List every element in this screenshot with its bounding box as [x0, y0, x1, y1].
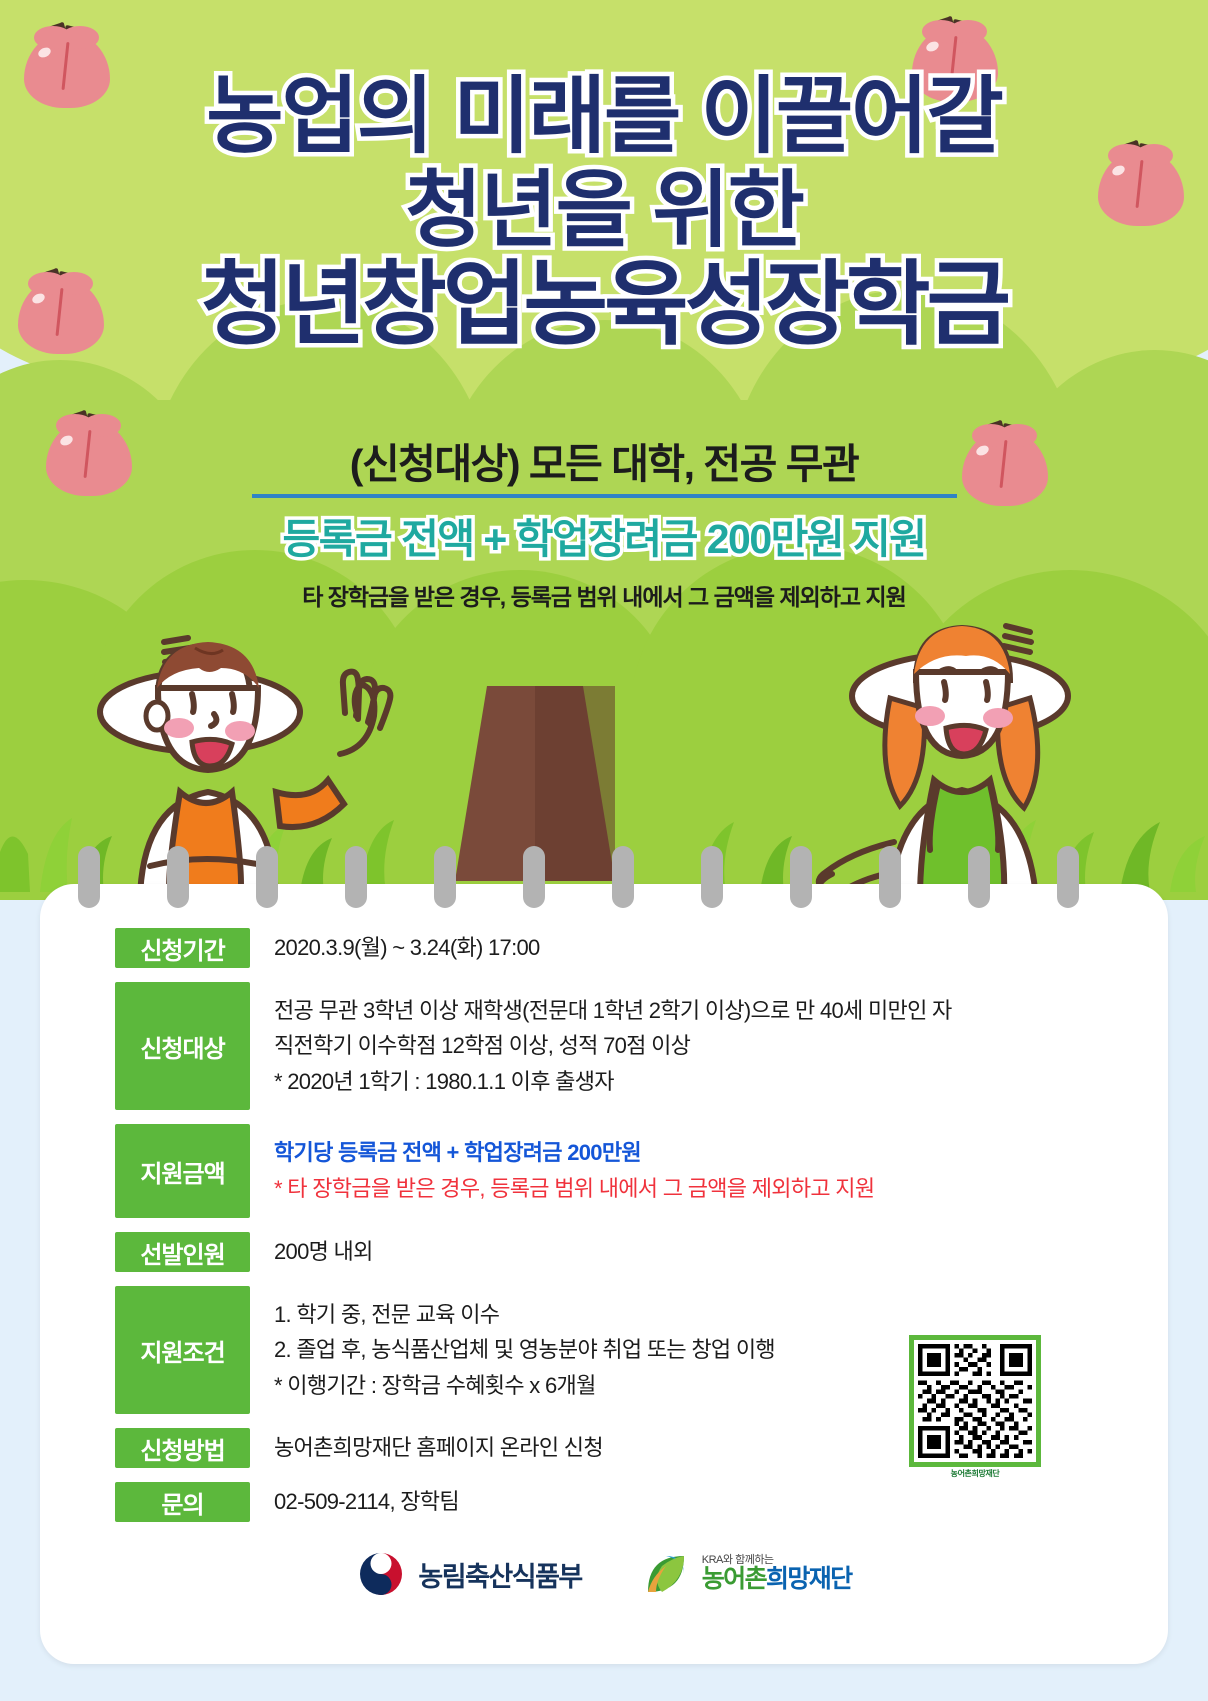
- poster-root: 농업의 미래를 이끌어갈 청년을 위한 청년창업농육성장학금 (신청대상) 모든…: [0, 0, 1208, 1701]
- row-label-method: 신청방법: [115, 1428, 250, 1468]
- row-line: * 타 장학금을 받은 경우, 등록금 범위 내에서 그 금액을 제외하고 지원: [274, 1171, 874, 1207]
- ministry-name: 농림축산식품부: [418, 1555, 581, 1594]
- row-label-target: 신청대상: [115, 982, 250, 1110]
- foundation-name-part1: 농어촌: [702, 1565, 766, 1593]
- leaf-emblem-icon: [642, 1550, 690, 1598]
- row-label-period: 신청기간: [115, 928, 250, 968]
- info-card: 신청기간 2020.3.9(월) ~ 3.24(화) 17:00 신청대상 전공…: [40, 884, 1168, 1664]
- qr-code-image: [918, 1344, 1032, 1458]
- row-value-contact: 02-509-2114, 장학팀: [250, 1482, 459, 1522]
- subtitle-divider: [252, 494, 957, 498]
- row-line: 02-509-2114, 장학팀: [274, 1484, 459, 1520]
- row-label-condition: 지원조건: [115, 1286, 250, 1414]
- row-line: 2. 졸업 후, 농식품산업체 및 영농분야 취업 또는 창업 이행: [274, 1332, 775, 1368]
- taegeuk-emblem-icon: [356, 1549, 406, 1599]
- subtitle-target: (신청대상) 모든 대학, 전공 무관: [0, 430, 1208, 490]
- subtitle-note: 타 장학금을 받은 경우, 등록금 범위 내에서 그 금액을 제외하고 지원: [0, 578, 1208, 612]
- row-line: * 이행기간 : 장학금 수혜횟수 x 6개월: [274, 1368, 775, 1404]
- qr-caption: 농어촌희망재단: [909, 1468, 1041, 1479]
- qr-code[interactable]: [909, 1335, 1041, 1467]
- row-line: 직전학기 이수학점 12학점 이상, 성적 70점 이상: [274, 1028, 952, 1064]
- row-line: 1. 학기 중, 전문 교육 이수: [274, 1297, 775, 1333]
- row-label-contact: 문의: [115, 1482, 250, 1522]
- headline-line-3: 청년창업농육성장학금: [0, 259, 1208, 353]
- table-row-count: 선발인원 200명 내외: [115, 1232, 1115, 1272]
- spiral-binding: [40, 846, 1168, 912]
- row-line: 2020.3.9(월) ~ 3.24(화) 17:00: [274, 930, 540, 966]
- table-row-contact: 문의 02-509-2114, 장학팀: [115, 1482, 1115, 1522]
- row-line: 농어촌희망재단 홈페이지 온라인 신청: [274, 1430, 603, 1466]
- row-value-count: 200명 내외: [250, 1232, 373, 1272]
- row-label-amount: 지원금액: [115, 1124, 250, 1218]
- subtitle-amount: 등록금 전액 + 학업장려금 200만원 지원: [0, 505, 1208, 565]
- row-value-target: 전공 무관 3학년 이상 재학생(전문대 1학년 2학기 이상)으로 만 40세…: [250, 982, 952, 1110]
- footer-logos: 농림축산식품부 KRA와 함께하는 농어촌희망재단: [40, 1534, 1168, 1614]
- row-value-period: 2020.3.9(월) ~ 3.24(화) 17:00: [250, 928, 540, 968]
- row-line: 학기당 등록금 전액 + 학업장려금 200만원: [274, 1135, 874, 1171]
- table-row-period: 신청기간 2020.3.9(월) ~ 3.24(화) 17:00: [115, 928, 1115, 968]
- headline-line-2: 청년을 위한: [0, 168, 1208, 254]
- row-line: * 2020년 1학기 : 1980.1.1 이후 출생자: [274, 1064, 952, 1100]
- row-line: 200명 내외: [274, 1234, 373, 1270]
- row-line: 전공 무관 3학년 이상 재학생(전문대 1학년 2학기 이상)으로 만 40세…: [274, 993, 952, 1029]
- row-value-method: 농어촌희망재단 홈페이지 온라인 신청: [250, 1428, 603, 1468]
- foundation-logo: KRA와 함께하는 농어촌희망재단: [642, 1550, 852, 1598]
- row-value-condition: 1. 학기 중, 전문 교육 이수 2. 졸업 후, 농식품산업체 및 영농분야…: [250, 1286, 775, 1414]
- ministry-logo: 농림축산식품부: [356, 1549, 581, 1599]
- row-value-amount: 학기당 등록금 전액 + 학업장려금 200만원 * 타 장학금을 받은 경우,…: [250, 1124, 874, 1218]
- table-row-amount: 지원금액 학기당 등록금 전액 + 학업장려금 200만원 * 타 장학금을 받…: [115, 1124, 1115, 1218]
- foundation-name-part2: 희망재단: [766, 1565, 852, 1593]
- table-row-target: 신청대상 전공 무관 3학년 이상 재학생(전문대 1학년 2학기 이상)으로 …: [115, 982, 1115, 1110]
- row-label-count: 선발인원: [115, 1232, 250, 1272]
- headline-block: 농업의 미래를 이끌어갈 청년을 위한 청년창업농육성장학금: [0, 74, 1208, 353]
- headline-line-1: 농업의 미래를 이끌어갈: [0, 74, 1208, 160]
